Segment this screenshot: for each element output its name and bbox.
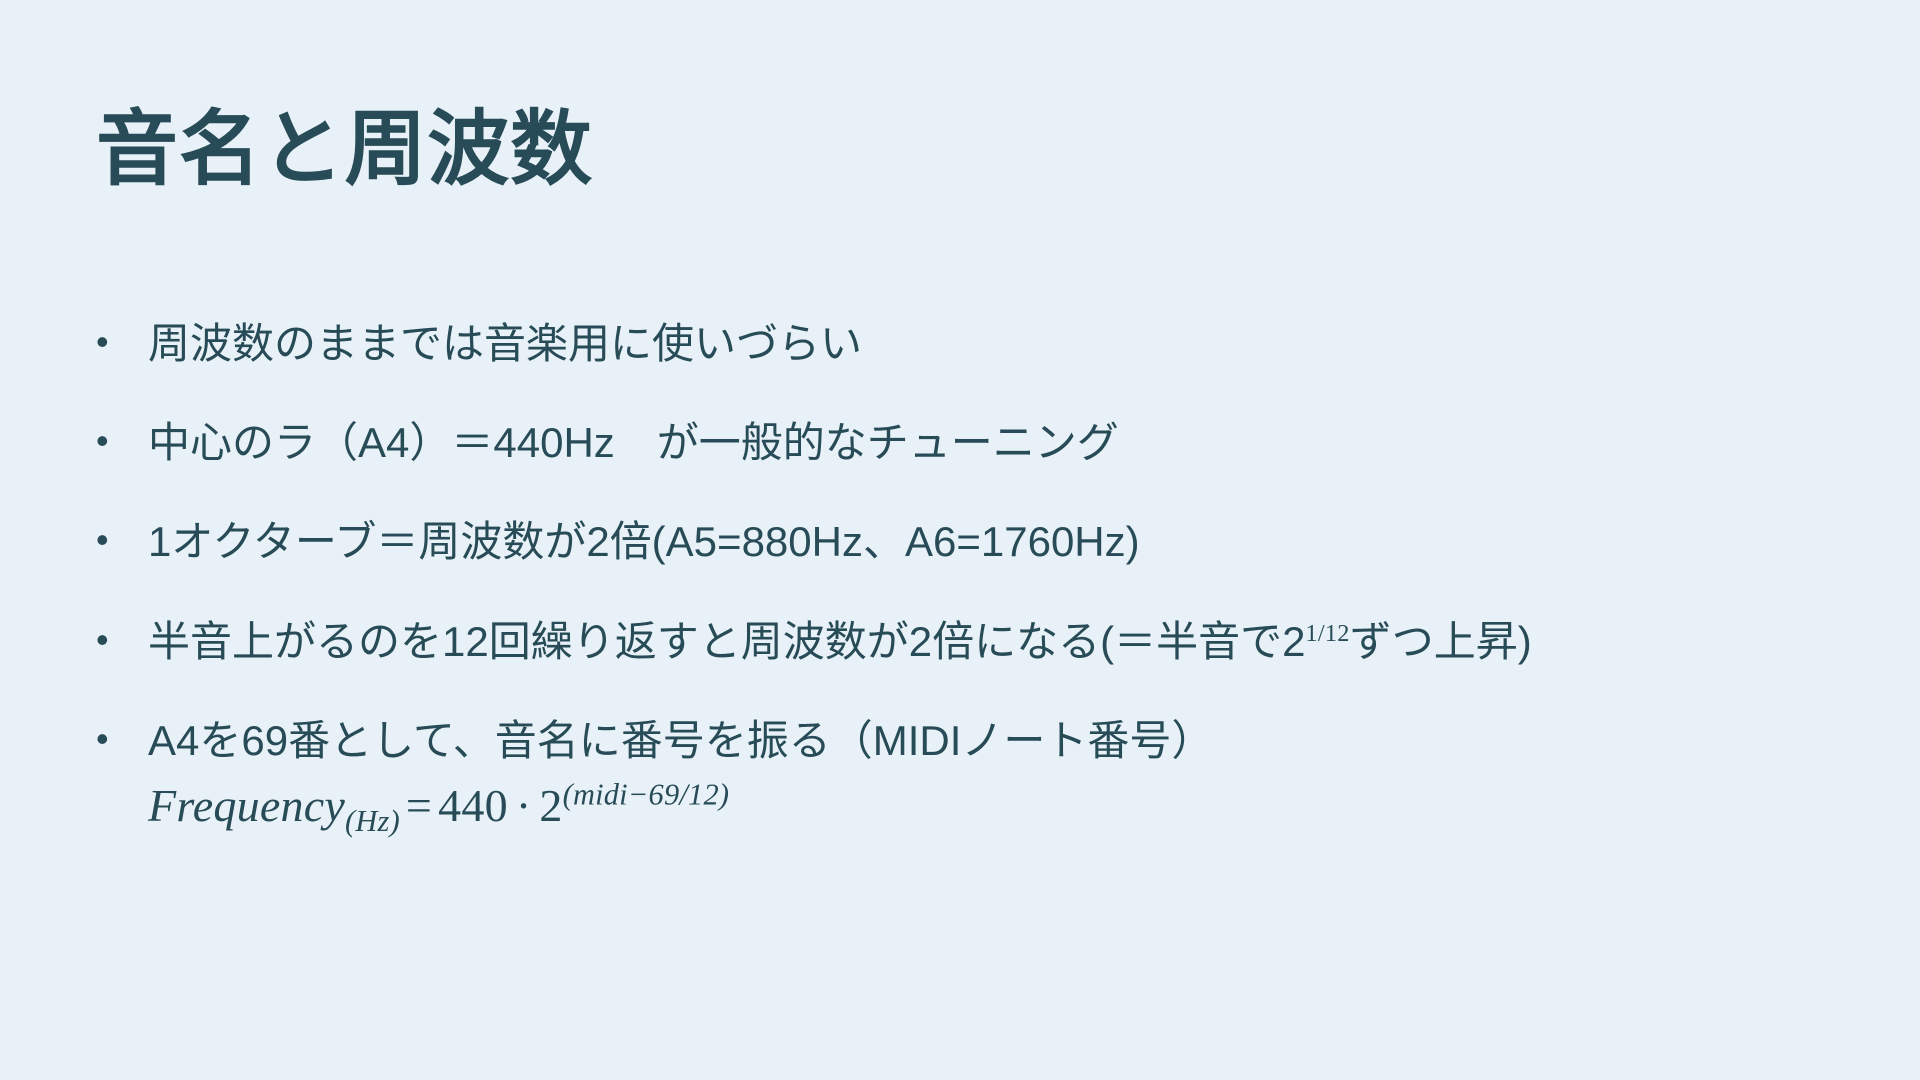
formula-coefficient: 440 <box>438 780 508 831</box>
bullet-marker-icon: • <box>96 616 148 665</box>
bullet-text: 1オクターブ＝周波数が2倍(A5=880Hz、A6=1760Hz) <box>148 516 1860 567</box>
bullet-body: A4を69番として、音名に番号を振る（MIDIノート番号） Frequency(… <box>148 715 1860 834</box>
bullet-marker-icon: • <box>96 516 148 565</box>
frequency-formula: Frequency(Hz)=440·2(midi−69/12) <box>148 778 1860 834</box>
bullet-body: 周波数のままでは音楽用に使いづらい <box>148 318 1860 369</box>
page-title: 音名と周波数 <box>96 103 593 197</box>
formula-exponent: (midi−69/12) <box>563 778 730 812</box>
list-item: • 周波数のままでは音楽用に使いづらい <box>96 318 1860 369</box>
list-item: • A4を69番として、音名に番号を振る（MIDIノート番号） Frequenc… <box>96 715 1860 834</box>
exponent-superscript: 1/12 <box>1305 620 1349 647</box>
bullet-marker-icon: • <box>96 715 148 764</box>
bullet-text-before: 半音上がるのを12回繰り返すと周波数が2倍になる(＝半音で2 <box>148 618 1305 665</box>
formula-multiply: · <box>508 780 540 831</box>
list-item: • 中心のラ（A4）＝440Hz が一般的なチューニング <box>96 417 1860 468</box>
formula-equals: = <box>400 780 438 831</box>
bullet-body: 中心のラ（A4）＝440Hz が一般的なチューニング <box>148 417 1860 468</box>
bullet-list: • 周波数のままでは音楽用に使いづらい • 中心のラ（A4）＝440Hz が一般… <box>96 318 1860 882</box>
formula-base: 2 <box>539 780 562 831</box>
bullet-text: 中心のラ（A4）＝440Hz が一般的なチューニング <box>148 417 1860 468</box>
bullet-text: A4を69番として、音名に番号を振る（MIDIノート番号） <box>148 715 1860 766</box>
slide: 音名と周波数 • 周波数のままでは音楽用に使いづらい • 中心のラ（A4）＝44… <box>0 0 1920 1080</box>
bullet-text-after: ずつ上昇) <box>1350 618 1532 665</box>
list-item: • 半音上がるのを12回繰り返すと周波数が2倍になる(＝半音で21/12ずつ上昇… <box>96 616 1860 667</box>
bullet-marker-icon: • <box>96 417 148 466</box>
bullet-text: 半音上がるのを12回繰り返すと周波数が2倍になる(＝半音で21/12ずつ上昇) <box>148 616 1860 667</box>
bullet-body: 半音上がるのを12回繰り返すと周波数が2倍になる(＝半音で21/12ずつ上昇) <box>148 616 1860 667</box>
bullet-text: 周波数のままでは音楽用に使いづらい <box>148 318 1860 369</box>
bullet-marker-icon: • <box>96 318 148 367</box>
list-item: • 1オクターブ＝周波数が2倍(A5=880Hz、A6=1760Hz) <box>96 516 1860 567</box>
formula-subscript: (Hz) <box>345 804 400 838</box>
formula-variable: Frequency <box>148 780 345 831</box>
bullet-body: 1オクターブ＝周波数が2倍(A5=880Hz、A6=1760Hz) <box>148 516 1860 567</box>
